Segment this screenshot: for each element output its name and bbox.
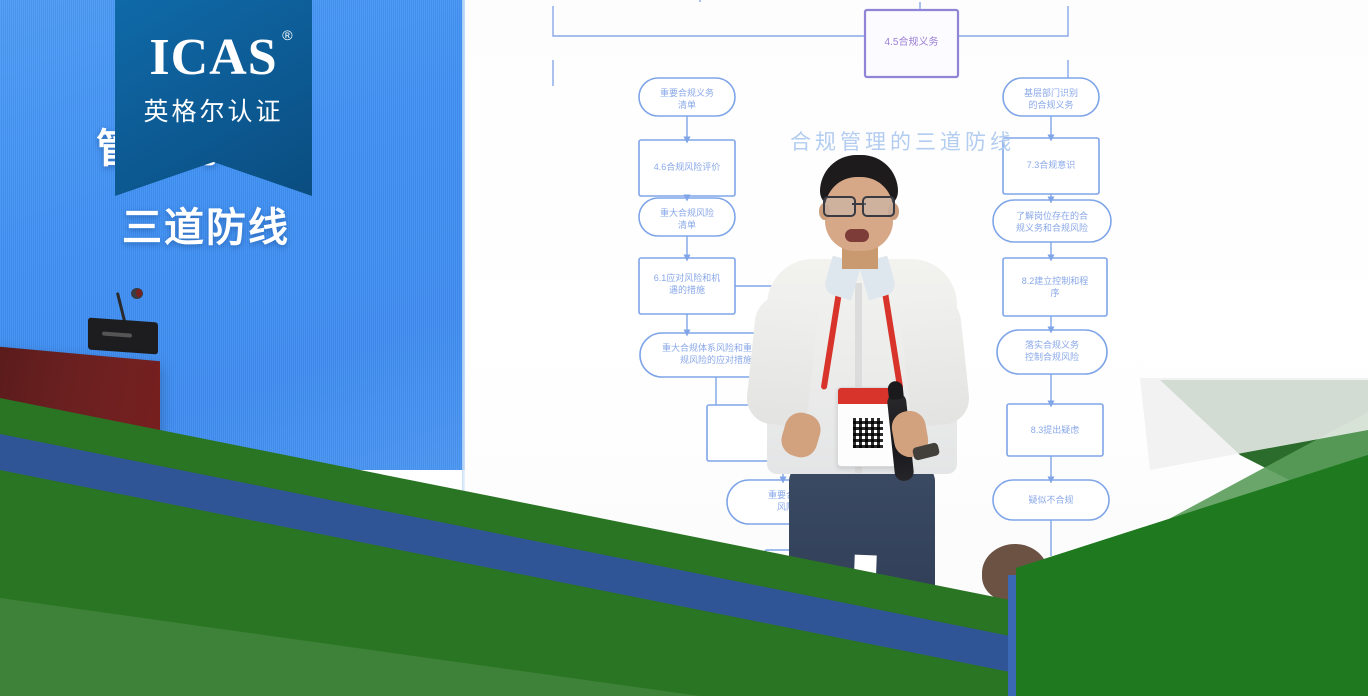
podium: [0, 346, 160, 471]
qr-code-icon: [853, 418, 883, 448]
speaker-right-arm: [898, 292, 971, 428]
speaker: [745, 155, 975, 615]
audience-head: [982, 544, 1048, 602]
slide-title: 合规管理的三道防线: [790, 126, 1015, 156]
audience-head: [625, 536, 695, 596]
podium-console: [88, 318, 158, 355]
node-suspect-shape: [993, 480, 1109, 520]
screenshot-stage: 管理的 三道防线 ICAS ® 英格尔认证: [0, 0, 1368, 696]
node-imp-list-shape: [639, 78, 735, 116]
audience-head: [1180, 590, 1254, 652]
registered-trademark-icon: ®: [282, 28, 293, 42]
wall-headline-line2: 三道防线: [96, 207, 396, 250]
node-73-shape: [1003, 138, 1099, 194]
node-46-shape: [639, 140, 735, 196]
icas-chinese-name: 英格尔认证: [143, 92, 283, 128]
node-implement-shape: [997, 330, 1107, 374]
node-83-shape: [1007, 404, 1103, 456]
node-major-risk-shape: [639, 198, 735, 236]
icas-wordmark: ICAS ®: [149, 32, 277, 84]
node-82-shape: [1003, 258, 1107, 316]
node-know-shape: [993, 200, 1111, 242]
eyeglasses-icon: [823, 196, 895, 214]
podium-microphone-head-icon: [131, 288, 143, 299]
speaker-mouth: [845, 229, 869, 242]
node-dept-shape: [1003, 78, 1099, 116]
node-61-shape: [639, 258, 735, 314]
stage-photo: 管理的 三道防线 ICAS ® 英格尔认证: [0, 0, 1368, 696]
icas-wordmark-text: ICAS: [149, 29, 277, 86]
node-45-shape: [865, 10, 958, 77]
